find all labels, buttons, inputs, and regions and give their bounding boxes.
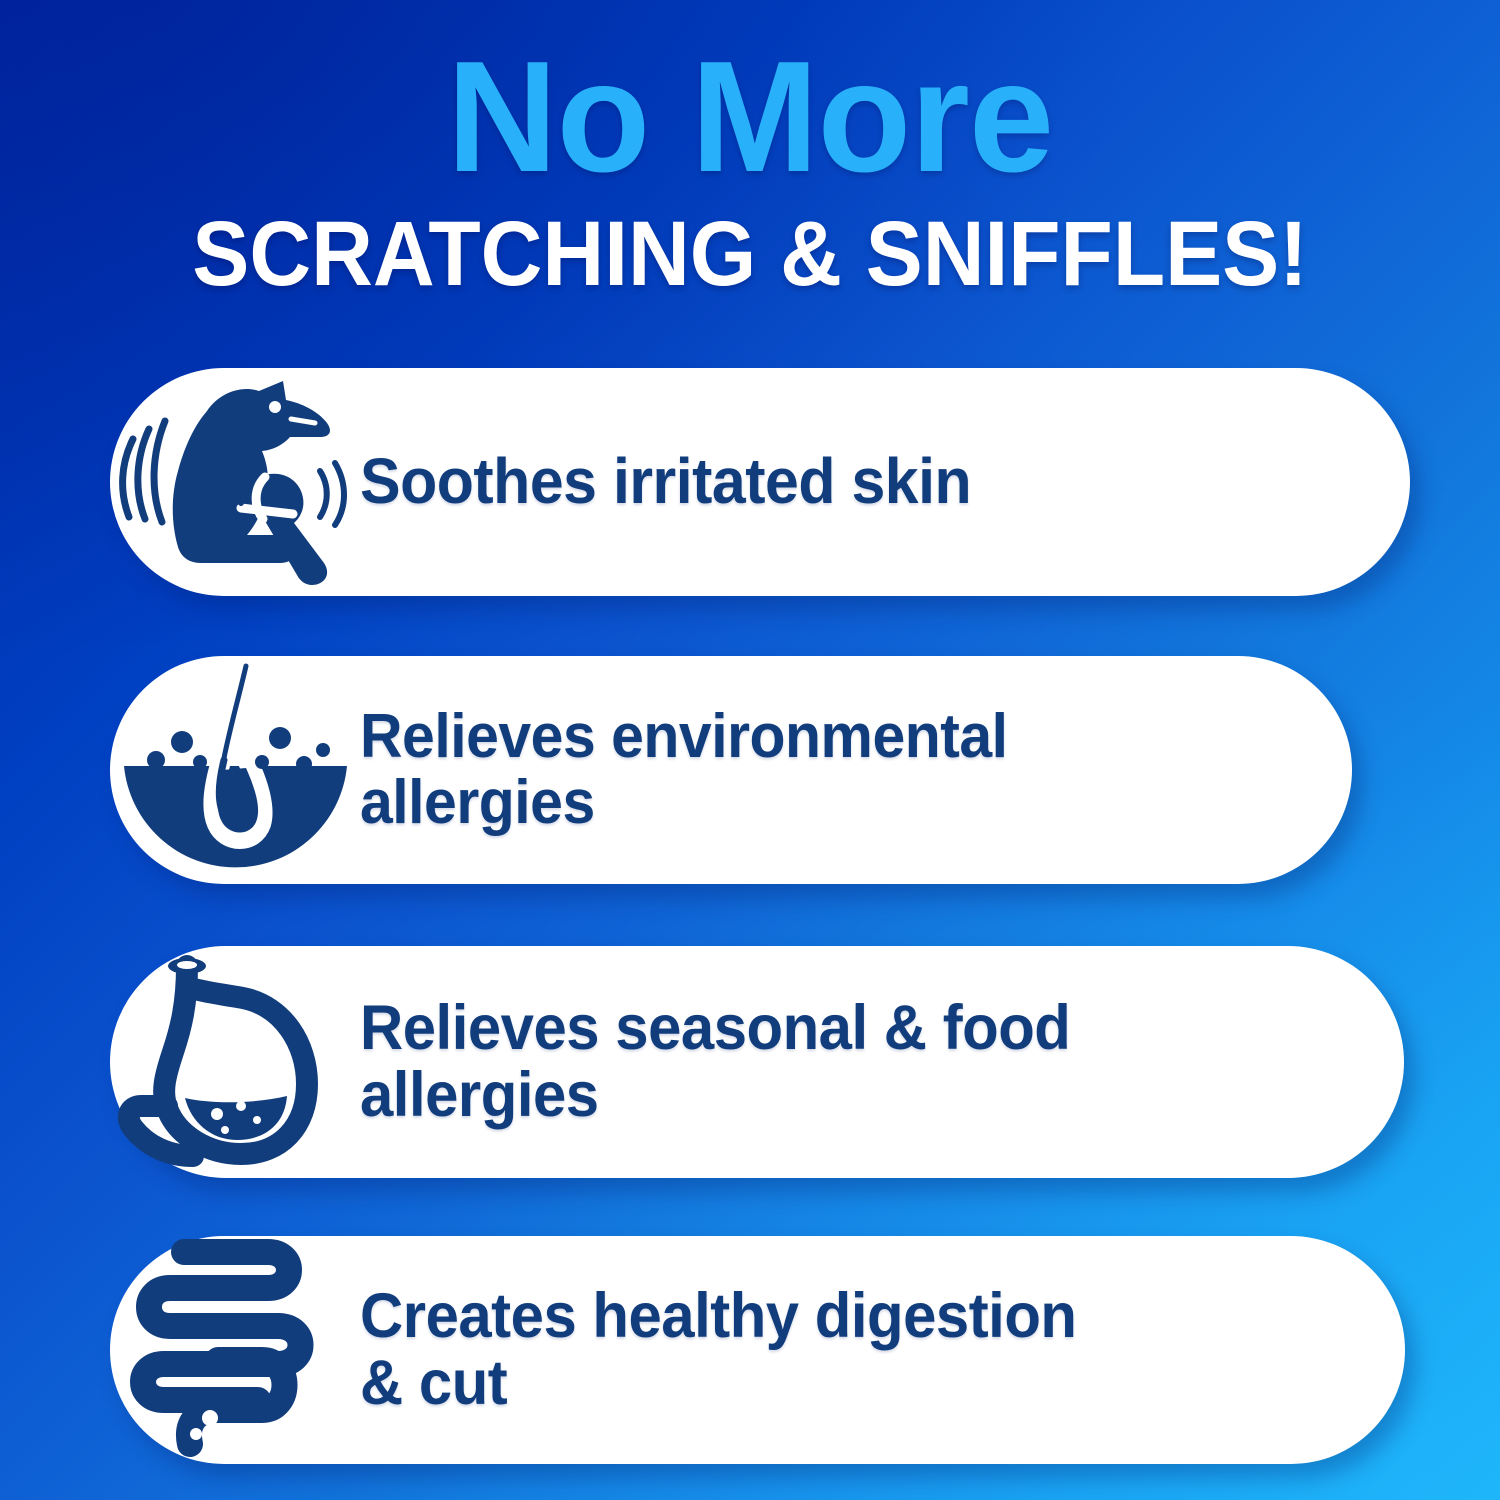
benefit-label: Creates healthy digestion & cut xyxy=(360,1283,1101,1417)
benefit-label: Relieves environmental allergies xyxy=(360,704,1032,835)
benefit-label: Relieves seasonal & food allergies xyxy=(360,995,1095,1129)
benefit-card-relieves-seasonal-food-allergies[interactable]: Relieves seasonal & food allergies xyxy=(110,946,1404,1178)
hair-follicle-skin-icon xyxy=(110,656,360,884)
benefit-card-creates-healthy-digestion[interactable]: Creates healthy digestion & cut xyxy=(110,1236,1405,1464)
poster-canvas: No More SCRATCHING & SNIFFLES! xyxy=(0,0,1500,1500)
intestines-icon xyxy=(110,1236,360,1464)
benefit-card-relieves-environmental-allergies[interactable]: Relieves environmental allergies xyxy=(110,656,1352,884)
page-title: No More xyxy=(23,42,1478,194)
page-subtitle: SCRATCHING & SNIFFLES! xyxy=(53,208,1448,302)
benefit-label: Soothes irritated skin xyxy=(360,448,996,516)
stomach-icon xyxy=(110,946,360,1178)
scratching-dog-icon xyxy=(110,368,360,596)
benefits-list: Soothes irritated skin xyxy=(0,368,1500,1464)
headline-block: No More SCRATCHING & SNIFFLES! xyxy=(0,42,1500,302)
benefit-card-soothes-irritated-skin[interactable]: Soothes irritated skin xyxy=(110,368,1410,596)
